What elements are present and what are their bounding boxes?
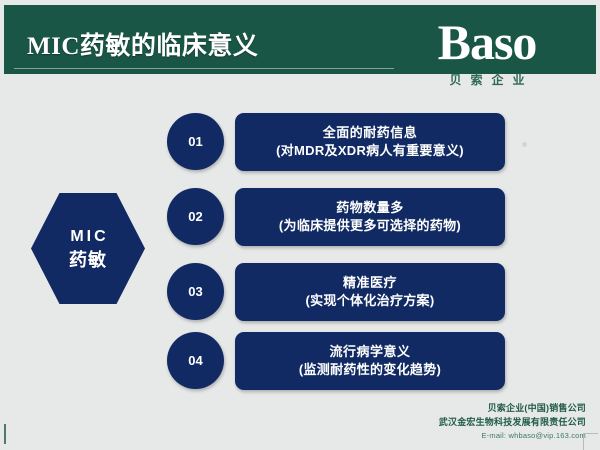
baso-logo: Baso 贝索企业 [392, 14, 582, 94]
benefit-row: 04 流行病学意义 (监测耐药性的变化趋势) [0, 332, 600, 390]
logo-subtitle: 贝索企业 [392, 71, 582, 88]
benefit-card-title: 流行病学意义 [329, 343, 410, 361]
benefit-card-title: 精准医疗 [343, 274, 397, 292]
benefit-number-badge: 04 [167, 332, 224, 389]
benefit-card-subtitle: (实现个体化治疗方案) [306, 292, 435, 310]
benefit-number-badge: 01 [167, 113, 224, 170]
benefit-card: 全面的耐药信息 (对MDR及XDR病人有重要意义) [235, 113, 505, 171]
benefit-card-subtitle: (对MDR及XDR病人有重要意义) [276, 142, 464, 160]
logo-wordmark: Baso [392, 14, 582, 70]
benefit-card-subtitle: (监测耐药性的变化趋势) [299, 361, 441, 379]
benefit-number-badge: 03 [167, 263, 224, 320]
page-title: MIC药敏的临床意义 [27, 26, 258, 62]
footer-email-line: E-mail: whbaso@vip.163.com [439, 429, 586, 442]
slide-canvas: MIC药敏的临床意义 Baso 贝索企业 MIC 药敏 01 全面的耐药信息 (… [0, 0, 600, 450]
benefit-card-title: 全面的耐药信息 [323, 124, 418, 142]
footer-contact-block: 贝索企业(中国)销售公司 武汉金宏生物科技发展有限责任公司 E-mail: wh… [439, 401, 586, 442]
background-speck [522, 142, 527, 147]
benefit-number-badge: 02 [167, 188, 224, 245]
corner-frame-artifact [583, 433, 598, 450]
benefit-card: 药物数量多 (为临床提供更多可选择的药物) [235, 188, 505, 246]
benefit-row: 02 药物数量多 (为临床提供更多可选择的药物) [0, 188, 600, 246]
benefit-row: 01 全面的耐药信息 (对MDR及XDR病人有重要意义) [0, 113, 600, 171]
left-edge-marker [4, 424, 6, 444]
benefit-row: 03 精准医疗 (实现个体化治疗方案) [0, 263, 600, 321]
footer-subsidiary-line: 武汉金宏生物科技发展有限责任公司 [439, 415, 586, 429]
footer-company-line: 贝索企业(中国)销售公司 [439, 401, 586, 415]
benefit-card-subtitle: (为临床提供更多可选择的药物) [279, 217, 461, 235]
benefit-card: 流行病学意义 (监测耐药性的变化趋势) [235, 332, 505, 390]
benefit-card: 精准医疗 (实现个体化治疗方案) [235, 263, 505, 321]
title-underline [14, 68, 394, 69]
benefit-card-title: 药物数量多 [336, 199, 404, 217]
